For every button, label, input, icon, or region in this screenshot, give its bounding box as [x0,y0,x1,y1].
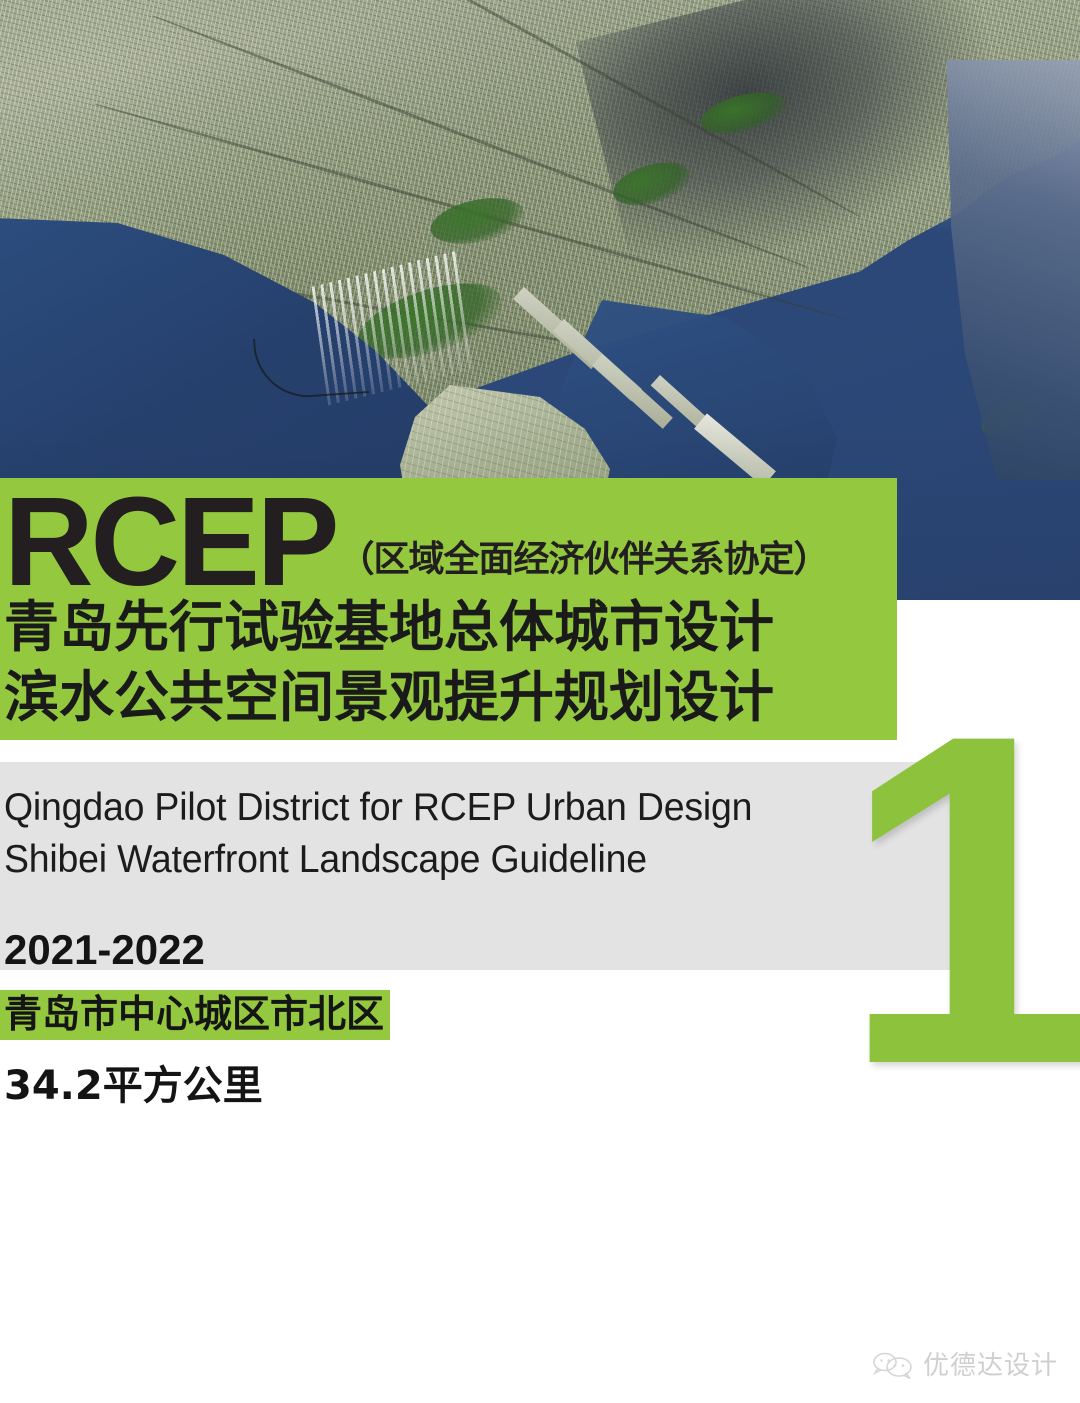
section-number: 1 [840,700,1080,1100]
project-district: 青岛市中心城区市北区 [0,990,390,1040]
project-year: 2021-2022 [4,925,205,975]
studio-watermark: 优德达设计 [872,1351,1058,1381]
english-subtitle: Qingdao Pilot District for RCEP Urban De… [4,782,783,886]
rcep-acronym: RCEP [4,487,337,597]
title-green-block: RCEP （区域全面经济伙伴关系协定） 青岛先行试验基地总体城市设计 滨水公共空… [0,478,897,740]
title-en-line-1: Qingdao Pilot District for RCEP Urban De… [4,782,752,834]
project-cover-page: 1 RCEP （区域全面经济伙伴关系协定） 青岛先行试验基地总体城市设计 滨水公… [0,0,1080,1403]
title-en-line-2: Shibei Waterfront Landscape Guideline [4,834,752,886]
title-cn-line-2: 滨水公共空间景观提升规划设计 [0,662,897,740]
rcep-expansion-cn: （区域全面经济伙伴关系协定） [339,538,829,582]
watermark-label: 优德达设计 [923,1351,1058,1381]
wechat-bubbles-icon [872,1351,914,1381]
acronym-row: RCEP （区域全面经济伙伴关系协定） [0,478,897,596]
project-area: 34.2平方公里 [4,1062,263,1110]
